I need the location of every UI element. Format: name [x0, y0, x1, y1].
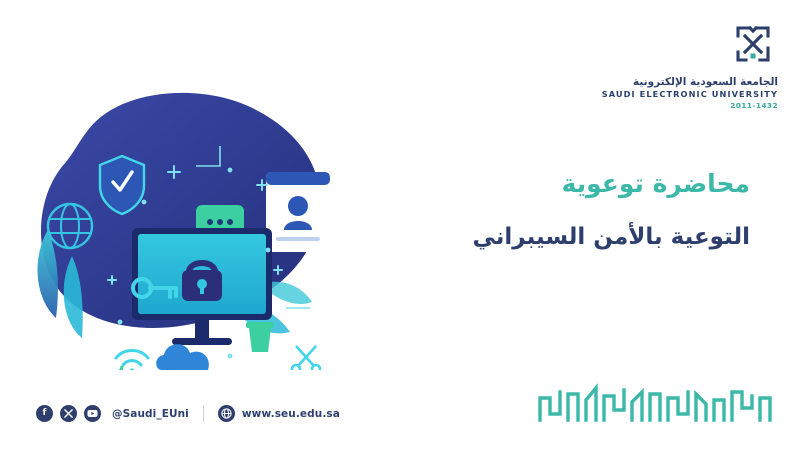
- lecture-subtitle: محاضرة توعوية: [320, 168, 750, 201]
- logo-english-name: SAUDI ELECTRONIC UNIVERSITY: [602, 89, 778, 100]
- seu-kufic-pattern-icon: [534, 380, 774, 426]
- seu-geometric-logo-icon: [730, 22, 776, 72]
- facebook-icon[interactable]: f: [36, 405, 53, 422]
- logo-year: 2011-1432: [730, 100, 778, 111]
- lecture-title: التوعية بالأمن السيبراني: [320, 223, 750, 253]
- social-links: f @Saudi_EUni: [36, 405, 189, 422]
- cybersecurity-illustration: [24, 70, 354, 370]
- title-block: محاضرة توعوية التوعية بالأمن السيبراني: [320, 168, 750, 252]
- x-twitter-icon[interactable]: [60, 405, 77, 422]
- university-logo: الجامعة السعودية الإلكترونية SAUDI ELECT…: [602, 22, 778, 111]
- website-link[interactable]: www.seu.edu.sa: [218, 405, 340, 422]
- website-url: www.seu.edu.sa: [242, 408, 340, 420]
- footer: f @Saudi_EUni: [36, 405, 340, 422]
- globe-icon: [218, 405, 235, 422]
- youtube-icon[interactable]: [84, 405, 101, 422]
- logo-arabic-name: الجامعة السعودية الإلكترونية: [633, 76, 778, 89]
- footer-divider: [203, 405, 204, 422]
- social-handle: @Saudi_EUni: [112, 408, 189, 420]
- slide: الجامعة السعودية الإلكترونية SAUDI ELECT…: [0, 0, 800, 450]
